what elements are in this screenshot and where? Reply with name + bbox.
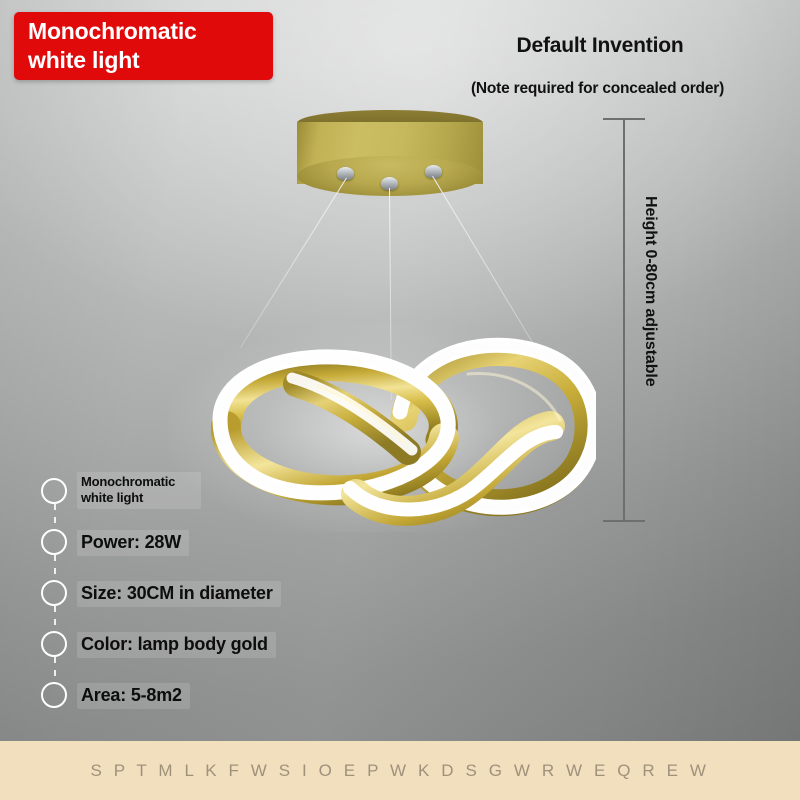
banner-text: S P T M L K F W S I O E P W K D S G W R …: [90, 761, 709, 781]
bullet-connector: [54, 555, 56, 574]
list-item: Size: 30CM in diameter: [41, 574, 371, 625]
bullet-circle-icon: [41, 631, 67, 657]
dimension-label: Height 0-80cm adjustable: [641, 196, 659, 387]
product-image: Monochromatic white light Default Invent…: [0, 0, 800, 800]
spec-label: Area: 5-8m2: [77, 683, 190, 709]
ceiling-canopy: [297, 110, 483, 196]
bullet-circle-icon: [41, 529, 67, 555]
spec-list: Monochromatic white light Power: 28W Siz…: [41, 472, 371, 727]
monochromatic-badge: Monochromatic white light: [14, 12, 273, 80]
spec-label: Size: 30CM in diameter: [77, 581, 281, 607]
spec-label: Power: 28W: [77, 530, 189, 556]
bottom-banner: S P T M L K F W S I O E P W K D S G W R …: [0, 741, 800, 800]
page-subtitle: (Note required for concealed order): [395, 80, 800, 98]
spec-label: Monochromatic white light: [77, 472, 201, 509]
badge-line-1: Monochromatic: [28, 17, 273, 46]
bullet-connector: [54, 657, 56, 676]
bullet-circle-icon: [41, 478, 67, 504]
badge-line-2: white light: [28, 46, 273, 75]
list-item: Color: lamp body gold: [41, 625, 371, 676]
bullet-connector: [54, 504, 56, 523]
list-item: Area: 5-8m2: [41, 676, 371, 727]
bullet-circle-icon: [41, 682, 67, 708]
list-item: Power: 28W: [41, 523, 371, 574]
dimension-cap-bottom: [603, 520, 645, 522]
page-title: Default Invention: [400, 34, 800, 58]
spec-label: Color: lamp body gold: [77, 632, 276, 658]
bullet-connector: [54, 606, 56, 625]
bullet-circle-icon: [41, 580, 67, 606]
dimension-line: [623, 118, 625, 521]
list-item: Monochromatic white light: [41, 472, 371, 523]
